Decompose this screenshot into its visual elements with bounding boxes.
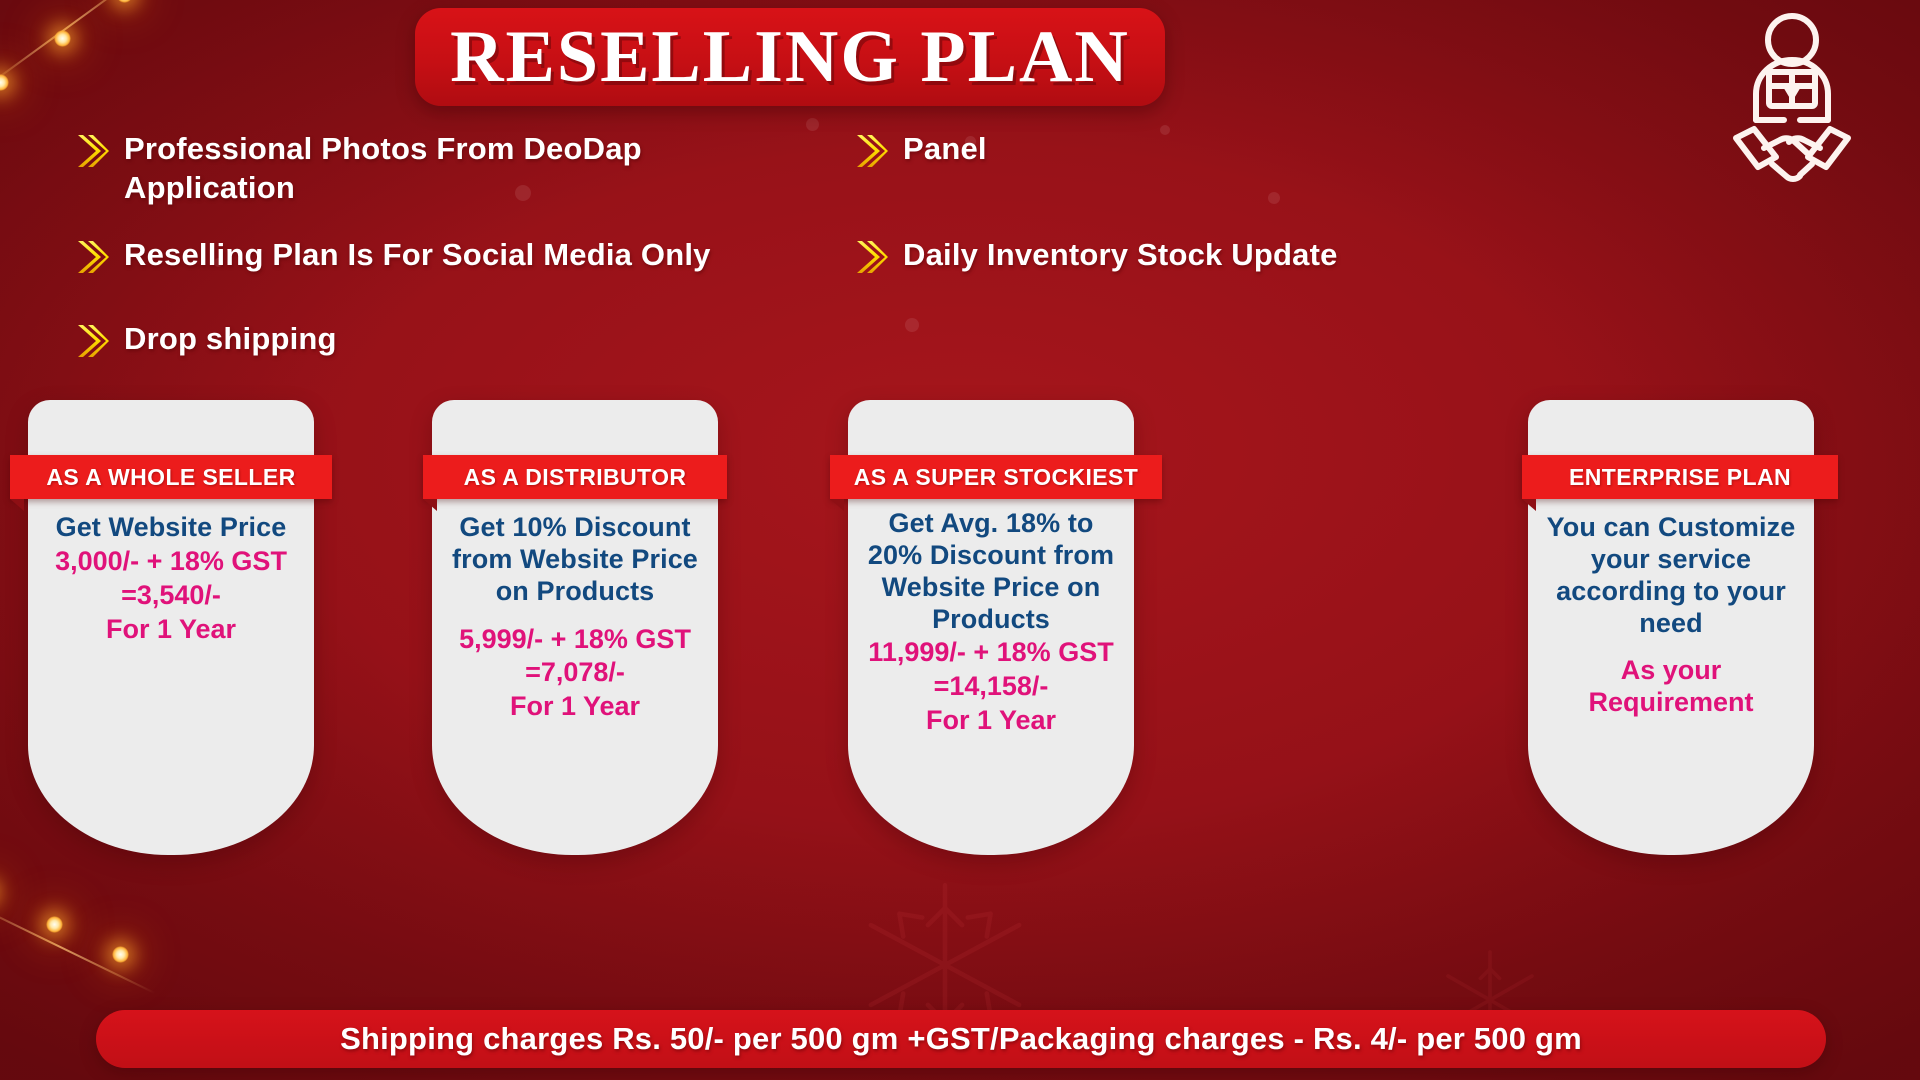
double-chevron-icon <box>855 238 889 276</box>
feature-label: Daily Inventory Stock Update <box>903 236 1338 275</box>
plan-ribbon: AS A DISTRIBUTOR <box>423 455 727 499</box>
plan-ribbon-label: AS A WHOLE SELLER <box>46 464 295 491</box>
feature-list: Professional Photos From DeoDap Applicat… <box>0 122 1640 382</box>
plan-ribbon: AS A WHOLE SELLER <box>10 455 332 499</box>
handshake-delivery-icon <box>1712 8 1872 198</box>
feature-label: Professional Photos From DeoDap Applicat… <box>124 130 816 208</box>
plan-ribbon-label: AS A DISTRIBUTOR <box>464 464 687 491</box>
plan-ribbon-label: AS A SUPER STOCKIEST <box>854 464 1138 491</box>
plan-heading: Get Website Price <box>38 512 304 544</box>
plan-heading: Get Avg. 18% to 20% Discount from Websit… <box>858 508 1124 635</box>
card-content: Get Avg. 18% to 20% Discount from Websit… <box>848 508 1134 737</box>
double-chevron-icon <box>76 238 110 276</box>
feature-item: Professional Photos From DeoDap Applicat… <box>76 130 816 208</box>
plan-price-line: For 1 Year <box>858 705 1124 737</box>
card-content: Get Website Price 3,000/- + 18% GST =3,5… <box>28 512 314 645</box>
plan-heading: Get 10% Discount from Website Price on P… <box>442 512 708 608</box>
plan-price-line: As your Requirement <box>1538 655 1804 719</box>
plan-heading: You can Customize your service according… <box>1538 512 1804 639</box>
poster-canvas: RESELLING PLAN <box>0 0 1920 1080</box>
plan-price-line: For 1 Year <box>38 614 304 646</box>
feature-item: Daily Inventory Stock Update <box>855 236 1495 276</box>
feature-item: Drop shipping <box>76 320 576 360</box>
plan-ribbon: ENTERPRISE PLAN <box>1522 455 1838 499</box>
feature-item: Panel <box>855 130 1355 170</box>
card-content: Get 10% Discount from Website Price on P… <box>432 512 718 723</box>
plan-card-row: AS A WHOLE SELLER Get Website Price 3,00… <box>0 400 1920 870</box>
feature-label: Panel <box>903 130 987 169</box>
page-title: RESELLING PLAN <box>450 20 1130 94</box>
plan-price-line: =14,158/- <box>858 671 1124 703</box>
plan-ribbon: AS A SUPER STOCKIEST <box>830 455 1162 499</box>
double-chevron-icon <box>855 132 889 170</box>
feature-label: Drop shipping <box>124 320 337 359</box>
fairy-lights-top-left <box>0 0 200 130</box>
plan-price-line: =3,540/- <box>38 580 304 612</box>
title-banner: RESELLING PLAN <box>415 8 1165 106</box>
feature-label: Reselling Plan Is For Social Media Only <box>124 236 711 275</box>
shipping-charges-bar: Shipping charges Rs. 50/- per 500 gm +GS… <box>96 1010 1826 1068</box>
feature-item: Reselling Plan Is For Social Media Only <box>76 236 836 276</box>
card-content: You can Customize your service according… <box>1528 512 1814 719</box>
plan-ribbon-label: ENTERPRISE PLAN <box>1569 464 1791 491</box>
double-chevron-icon <box>76 322 110 360</box>
plan-price-line: 5,999/- + 18% GST <box>442 624 708 656</box>
plan-price-line: 11,999/- + 18% GST <box>858 637 1124 669</box>
plan-price-line: =7,078/- <box>442 657 708 689</box>
double-chevron-icon <box>76 132 110 170</box>
plan-price-line: 3,000/- + 18% GST <box>38 546 304 578</box>
plan-price-line: For 1 Year <box>442 691 708 723</box>
shipping-charges-label: Shipping charges Rs. 50/- per 500 gm +GS… <box>340 1021 1582 1057</box>
